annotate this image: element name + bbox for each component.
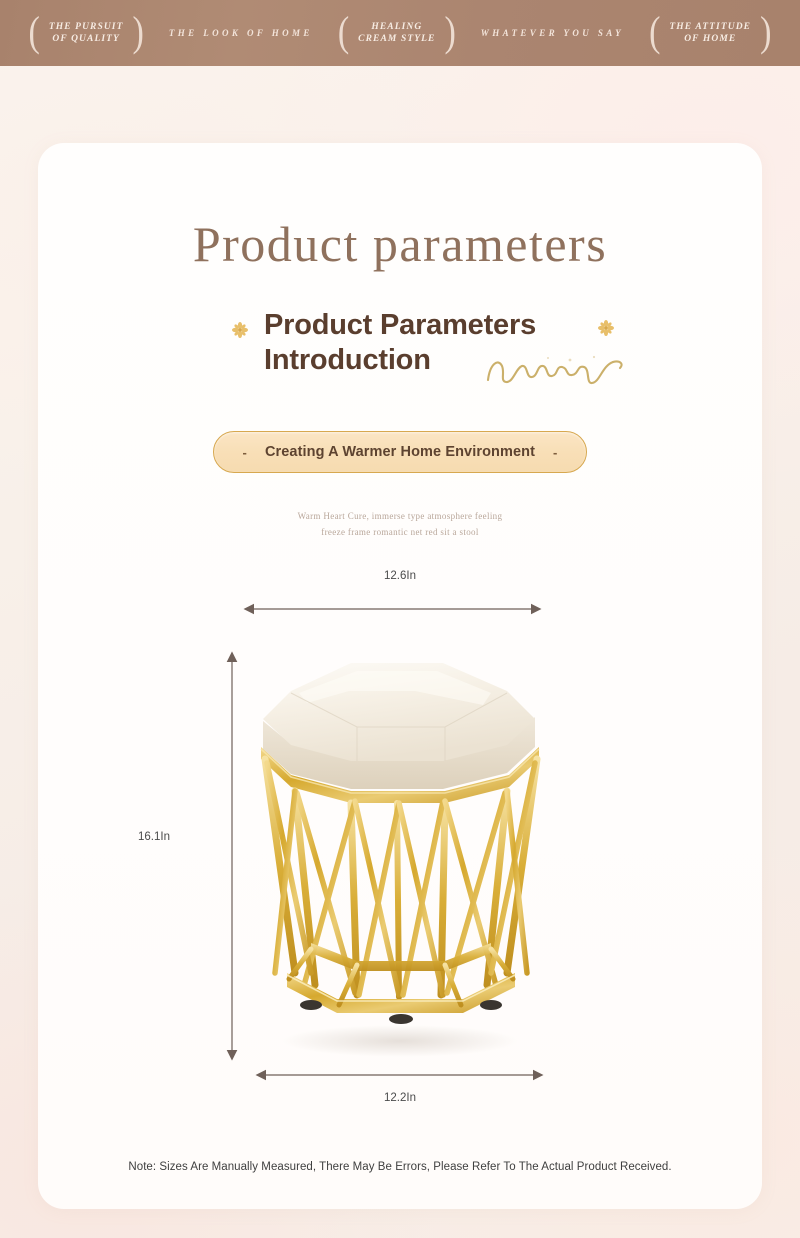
banner-segment-pursuit: ( THE PURSUIT OF QUALITY ) bbox=[20, 16, 153, 50]
measurement-note: Note: Sizes Are Manually Measured, There… bbox=[38, 1161, 762, 1173]
bracket-open-icon: ( bbox=[20, 12, 49, 55]
flower-ornament-icon bbox=[598, 320, 614, 336]
bracket-close-icon: ) bbox=[124, 12, 153, 55]
subtitle-line-1: Product Parameters bbox=[264, 309, 536, 341]
subtitle: Product Parameters Introduction bbox=[264, 308, 536, 378]
top-banner: ( THE PURSUIT OF QUALITY ) THE LOOK OF H… bbox=[0, 0, 800, 66]
banner-segment-attitude-label: THE ATTITUDE OF HOME bbox=[669, 21, 751, 46]
subtitle-line-2: Introduction bbox=[264, 344, 431, 376]
bracket-close-icon: ) bbox=[435, 12, 464, 55]
dimension-diagram: 12.6In 16.1In 12.2In bbox=[38, 143, 762, 1209]
bracket-open-icon: ( bbox=[329, 12, 358, 55]
product-parameters-card: Product parameters bbox=[38, 143, 762, 1209]
banner-segment-pursuit-label: THE PURSUIT OF QUALITY bbox=[49, 21, 124, 46]
banner-segment-healing: ( HEALING CREAM STYLE ) bbox=[329, 16, 465, 50]
banner-segment-healing-label: HEALING CREAM STYLE bbox=[358, 21, 435, 46]
product-image-stool bbox=[245, 643, 555, 1063]
bracket-open-icon: ( bbox=[640, 12, 669, 55]
banner-segment-whatever-label: WHATEVER YOU SAY bbox=[465, 28, 640, 38]
flower-ornament-icon bbox=[232, 322, 248, 338]
banner-segment-attitude: ( THE ATTITUDE OF HOME ) bbox=[640, 16, 780, 50]
bracket-close-icon: ) bbox=[751, 12, 780, 55]
banner-segment-look-label: THE LOOK OF HOME bbox=[153, 28, 329, 38]
